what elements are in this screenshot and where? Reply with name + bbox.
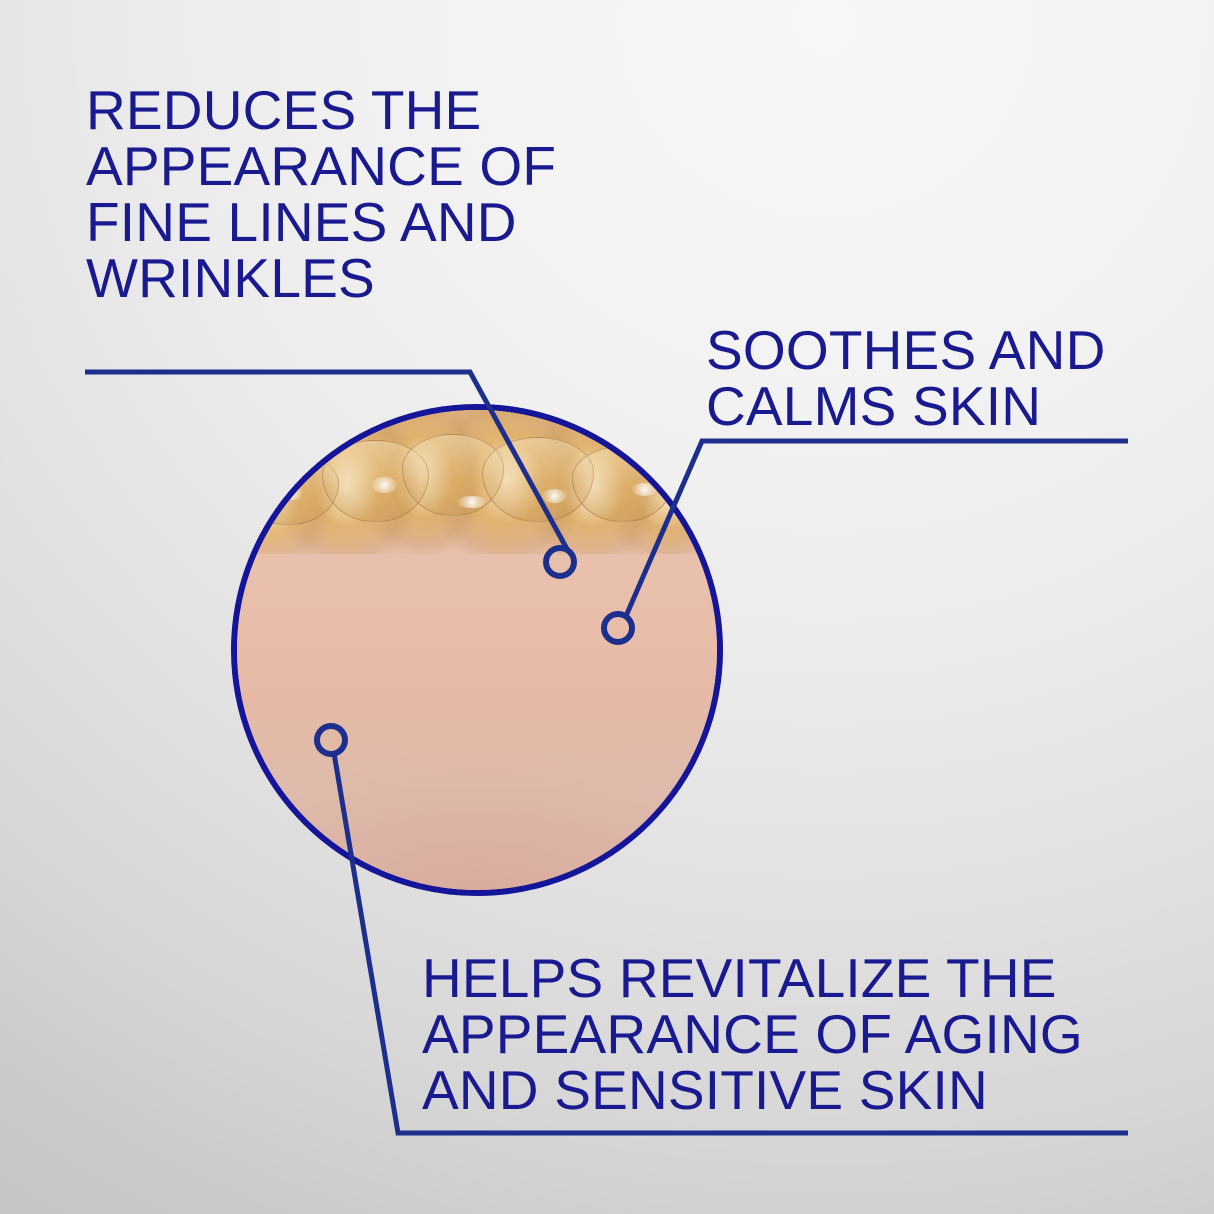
callout-text-fine-lines: REDUCES THE APPEARANCE OF FINE LINES AND… (86, 82, 556, 306)
circle-gloss-overlay (237, 410, 717, 890)
benefit-infographic: REDUCES THE APPEARANCE OF FINE LINES AND… (0, 0, 1214, 1214)
callout-text-revitalize: HELPS REVITALIZE THE APPEARANCE OF AGING… (422, 950, 1083, 1118)
product-photo-circle (231, 404, 723, 896)
callout-text-soothes: SOOTHES AND CALMS SKIN (706, 322, 1106, 434)
